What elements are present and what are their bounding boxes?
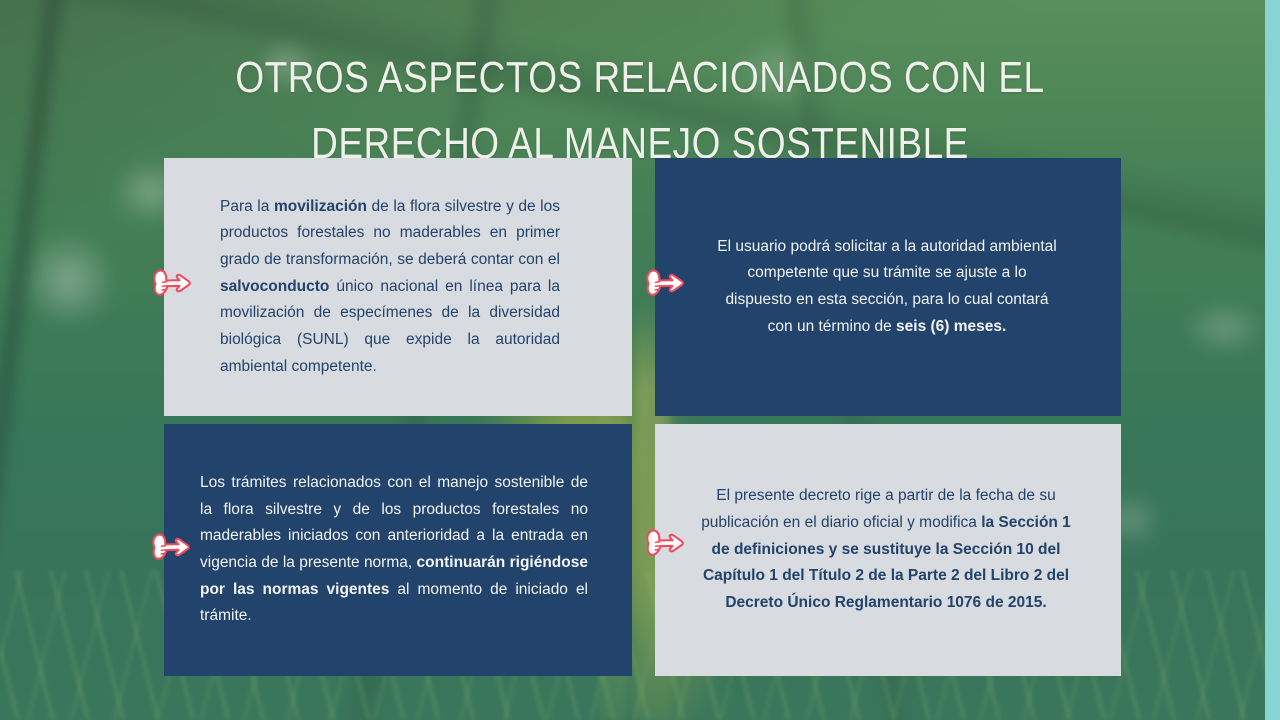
pointing-hand-right-icon [149,526,193,566]
accent-band-right [1265,0,1280,720]
info-card-tramites-en-curso: Los trámites relacionados con el manejo … [164,424,632,676]
info-card-vigencia-decreto: El presente decreto rige a partir de la … [655,424,1121,676]
info-card-movilizacion-text: Para la movilización de la flora silvest… [220,194,560,381]
info-card-termino-seis-meses-text: El usuario podrá solicitar a la autorida… [713,234,1061,341]
info-card-vigencia-decreto-text: El presente decreto rige a partir de la … [699,483,1073,616]
page-title: Otros aspectos relacionados con el derec… [203,45,1077,175]
pointing-hand-right-icon [643,522,687,562]
info-card-movilizacion: Para la movilización de la flora silvest… [164,158,632,416]
info-card-tramites-en-curso-text: Los trámites relacionados con el manejo … [200,470,588,630]
pointing-hand-right-icon [643,262,687,302]
info-card-termino-seis-meses: El usuario podrá solicitar a la autorida… [655,158,1121,416]
pointing-hand-right-icon [150,262,194,302]
slide: Otros aspectos relacionados con el derec… [0,0,1280,720]
